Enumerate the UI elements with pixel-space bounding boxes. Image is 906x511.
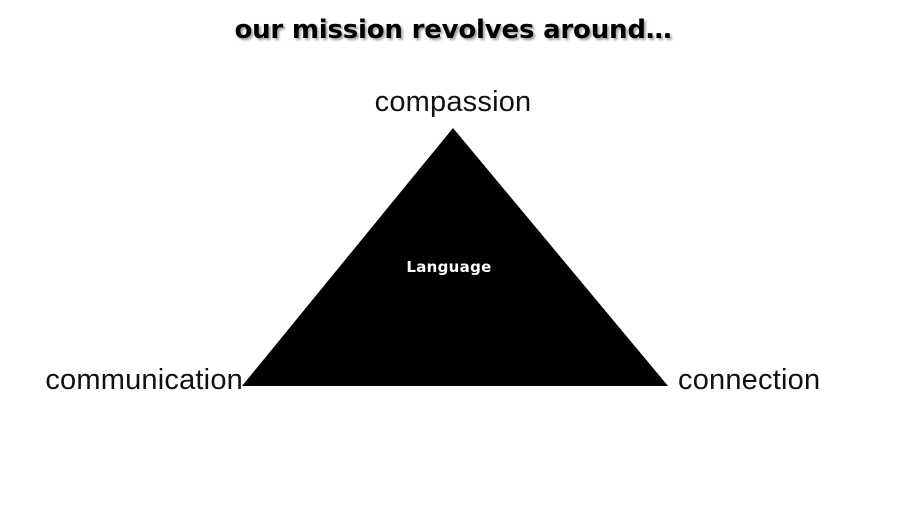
slide-canvas: our mission revolves around… compassion … xyxy=(0,0,906,511)
page-title: our mission revolves around… xyxy=(0,14,906,47)
triangle-graphic xyxy=(0,0,906,511)
triangle-center-label: Language xyxy=(349,260,549,275)
vertex-label-compassion: compassion xyxy=(0,88,906,117)
triangle-shape xyxy=(242,128,668,386)
vertex-label-communication: communication xyxy=(0,366,243,395)
vertex-label-connection: connection xyxy=(678,366,820,395)
